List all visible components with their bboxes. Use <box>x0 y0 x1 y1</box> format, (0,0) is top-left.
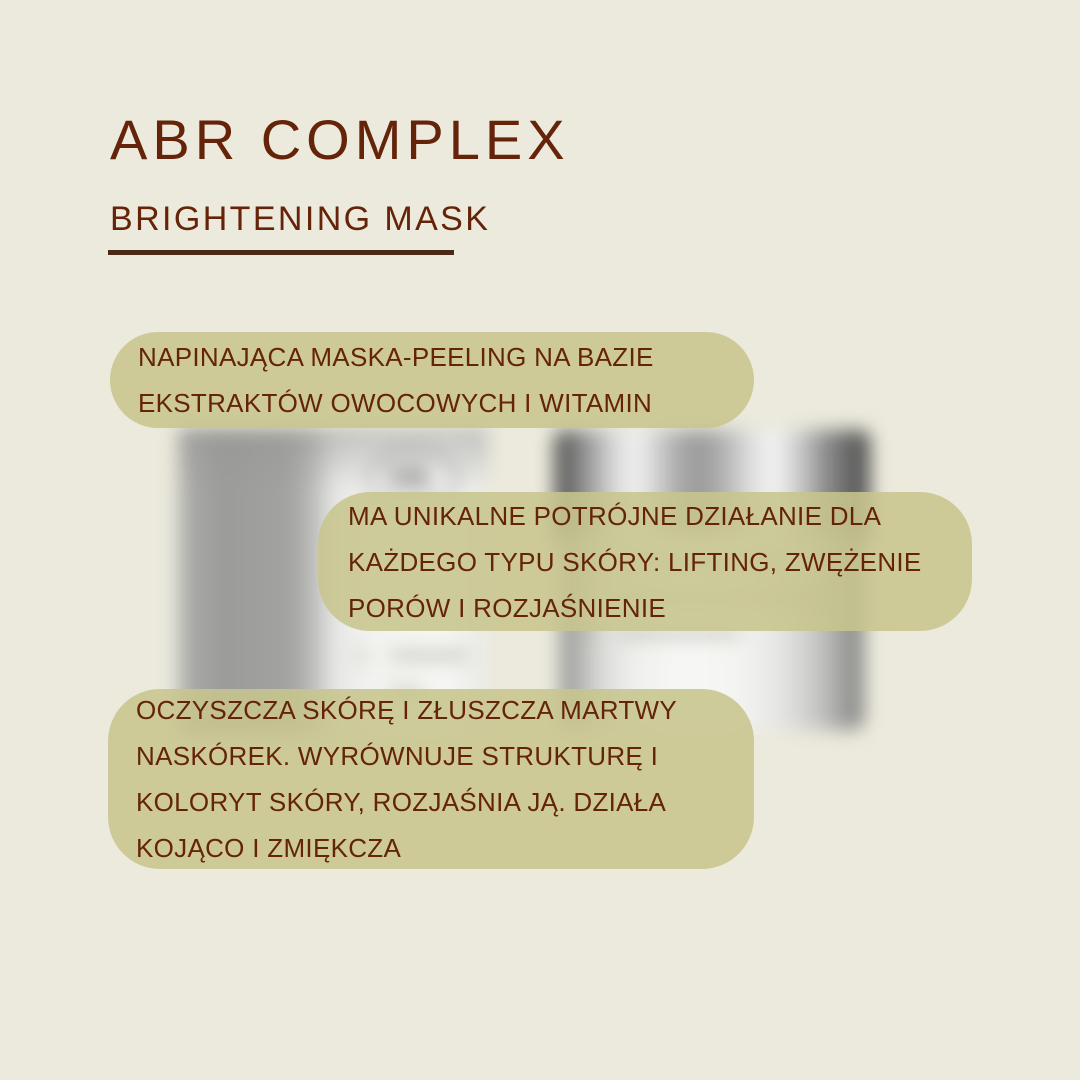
page-subtitle: BRIGHTENING MASK <box>110 168 570 236</box>
benefit-pill-2-line-2: KAŻDEGO TYPU SKÓRY: LIFTING, ZWĘŻENIE <box>348 539 942 585</box>
carton-bullet-dot <box>354 652 368 660</box>
benefit-pill-1: NAPINAJĄCA MASKA-PEELING NA BAZIE EKSTRA… <box>110 332 754 428</box>
benefit-pill-3-line-1: OCZYSZCZA SKÓRĘ I ZŁUSZCZA MARTWY <box>136 687 726 733</box>
benefit-pill-1-line-1: NAPINAJĄCA MASKA-PEELING NA BAZIE <box>138 334 726 380</box>
title-underline-rule <box>108 250 454 255</box>
benefit-pill-3-line-2: NASKÓREK. WYRÓWNUJE STRUKTURĘ I <box>136 733 726 779</box>
benefit-pill-3-line-3: KOLORYT SKÓRY, ROZJAŚNIA JĄ. DZIAŁA <box>136 779 726 825</box>
title-block: ABR COMPLEX BRIGHTENING MASK <box>110 112 570 236</box>
benefit-pill-2: MA UNIKALNE POTRÓJNE DZIAŁANIE DLA KAŻDE… <box>318 492 972 631</box>
benefit-pill-1-line-2: EKSTRAKTÓW OWOCOWYCH I WITAMIN <box>138 380 726 426</box>
benefit-pill-3: OCZYSZCZA SKÓRĘ I ZŁUSZCZA MARTWY NASKÓR… <box>108 689 754 869</box>
benefit-pill-2-line-1: MA UNIKALNE POTRÓJNE DZIAŁANIE DLA <box>348 493 942 539</box>
carton-text-line <box>390 650 468 661</box>
poster-canvas: HL ABR COMPLEX BRIGHTENING MASK NAPINAJĄ… <box>0 0 1080 1080</box>
page-title: ABR COMPLEX <box>110 112 570 168</box>
benefit-pill-2-line-3: PORÓW I ROZJAŚNIENIE <box>348 585 942 631</box>
benefit-pill-3-line-4: KOJĄCO I ZMIĘKCZA <box>136 825 726 871</box>
